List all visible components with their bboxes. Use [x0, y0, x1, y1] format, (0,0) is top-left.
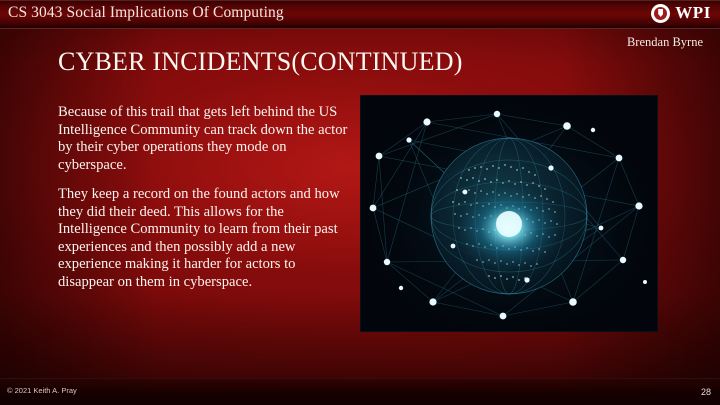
slide-header-bar: CS 3043 Social Implications Of Computing… [0, 0, 720, 29]
wpi-shield-shape [658, 9, 663, 17]
global-network-globe-image [360, 95, 658, 332]
header-top-rule [0, 0, 720, 1]
copyright-notice: © 2021 Keith A. Pray [7, 386, 77, 395]
paragraph-2: They keep a record on the found actors a… [58, 186, 348, 291]
presentation-slide: CS 3043 Social Implications Of Computing… [0, 0, 720, 405]
wpi-seal-icon [651, 4, 670, 23]
wpi-logo: WPI [651, 3, 711, 23]
author-name: Brendan Byrne [627, 35, 703, 50]
slide-footer-bar [0, 378, 720, 405]
paragraph-1: Because of this trail that gets left beh… [58, 104, 348, 174]
slide-body-text: Because of this trail that gets left beh… [58, 104, 348, 303]
wpi-logo-text: WPI [675, 3, 711, 23]
globe-network-graphic [361, 96, 657, 331]
page-number: 28 [701, 387, 711, 397]
course-title: CS 3043 Social Implications Of Computing [8, 4, 284, 22]
page-title: CYBER INCIDENTS(CONTINUED) [58, 47, 463, 77]
